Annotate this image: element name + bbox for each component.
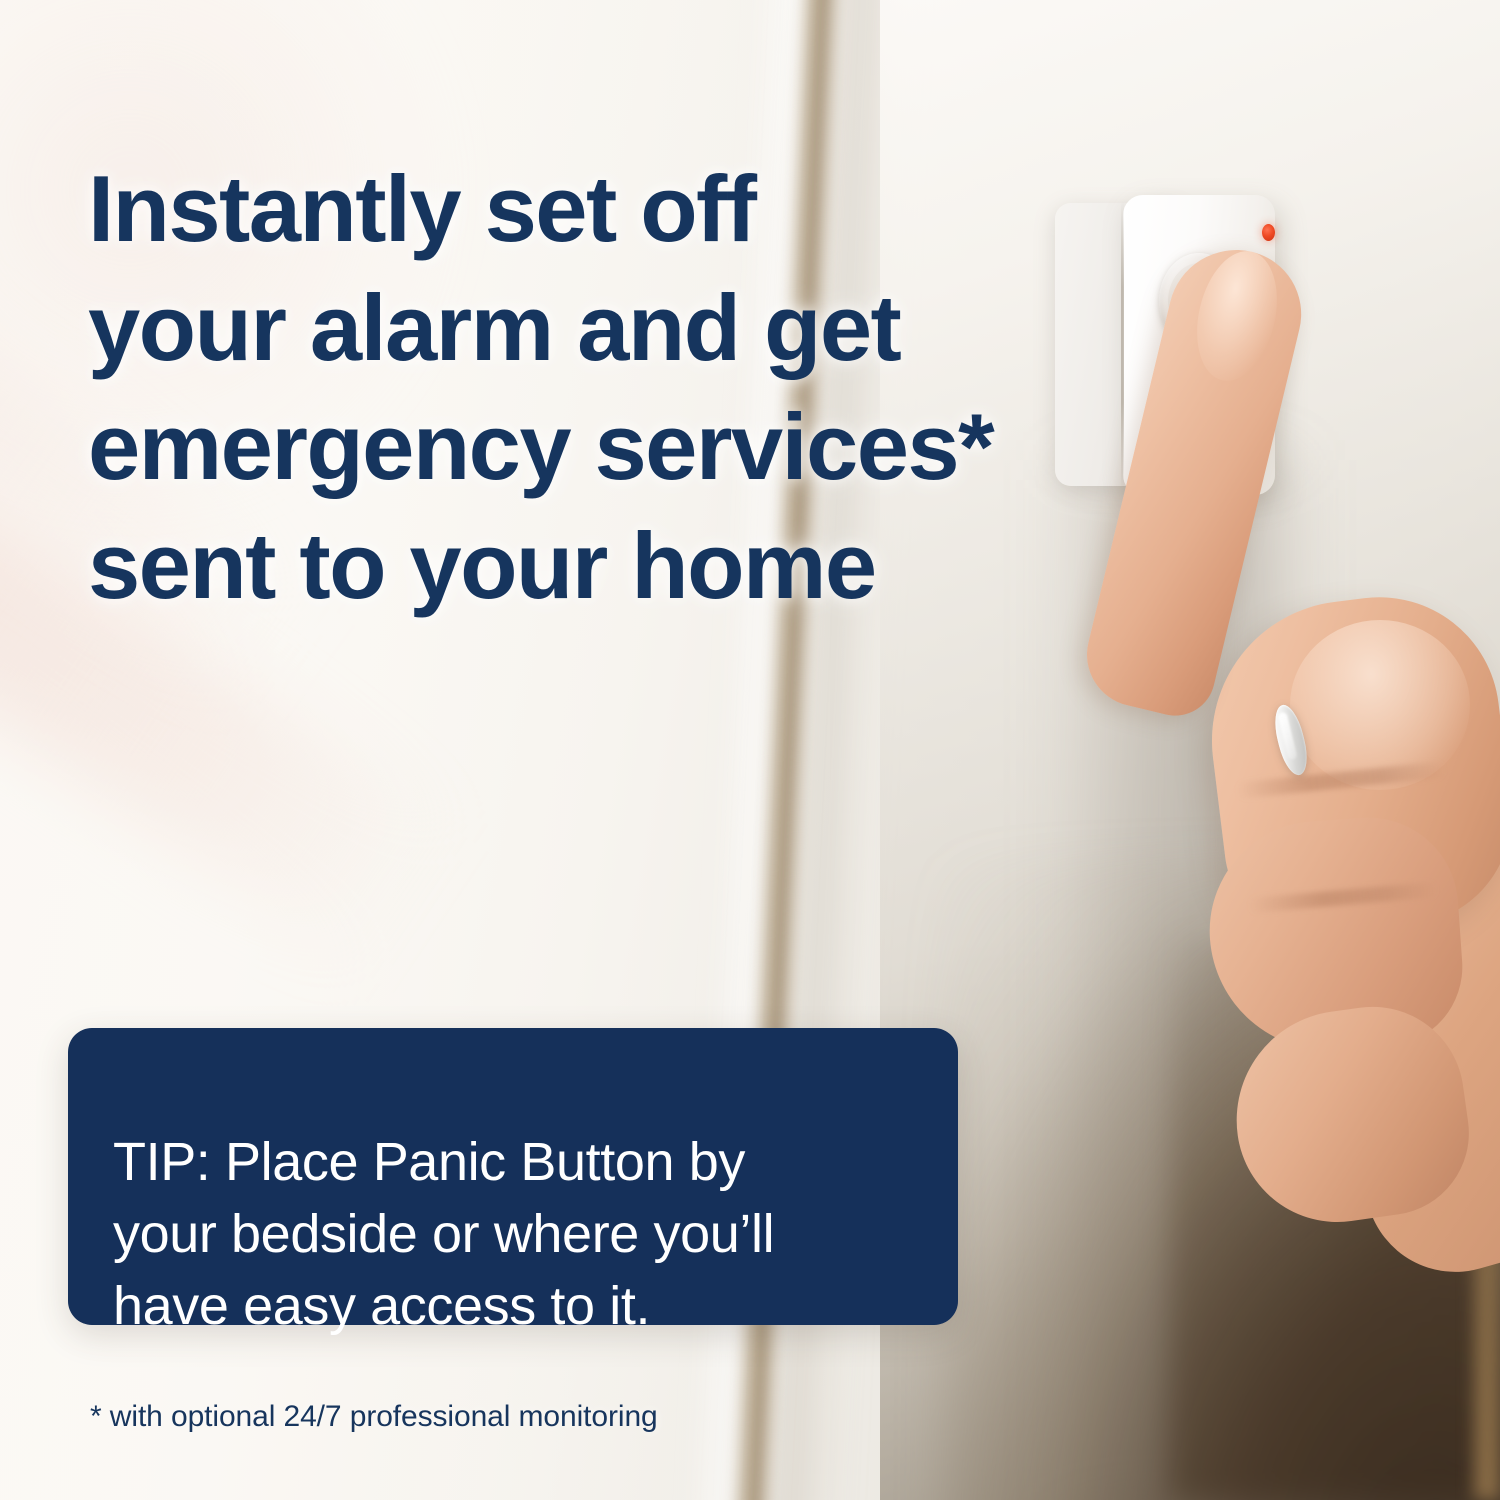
tip-callout-text: TIP: Place Panic Button by your bedside … <box>113 1126 913 1342</box>
headline: Instantly set off your alarm and get eme… <box>88 149 1088 625</box>
marketing-image: Instantly set off your alarm and get eme… <box>0 0 1500 1500</box>
footnote-disclaimer: * with optional 24/7 professional monito… <box>90 1400 658 1434</box>
tip-callout-box: TIP: Place Panic Button by your bedside … <box>68 1028 958 1325</box>
